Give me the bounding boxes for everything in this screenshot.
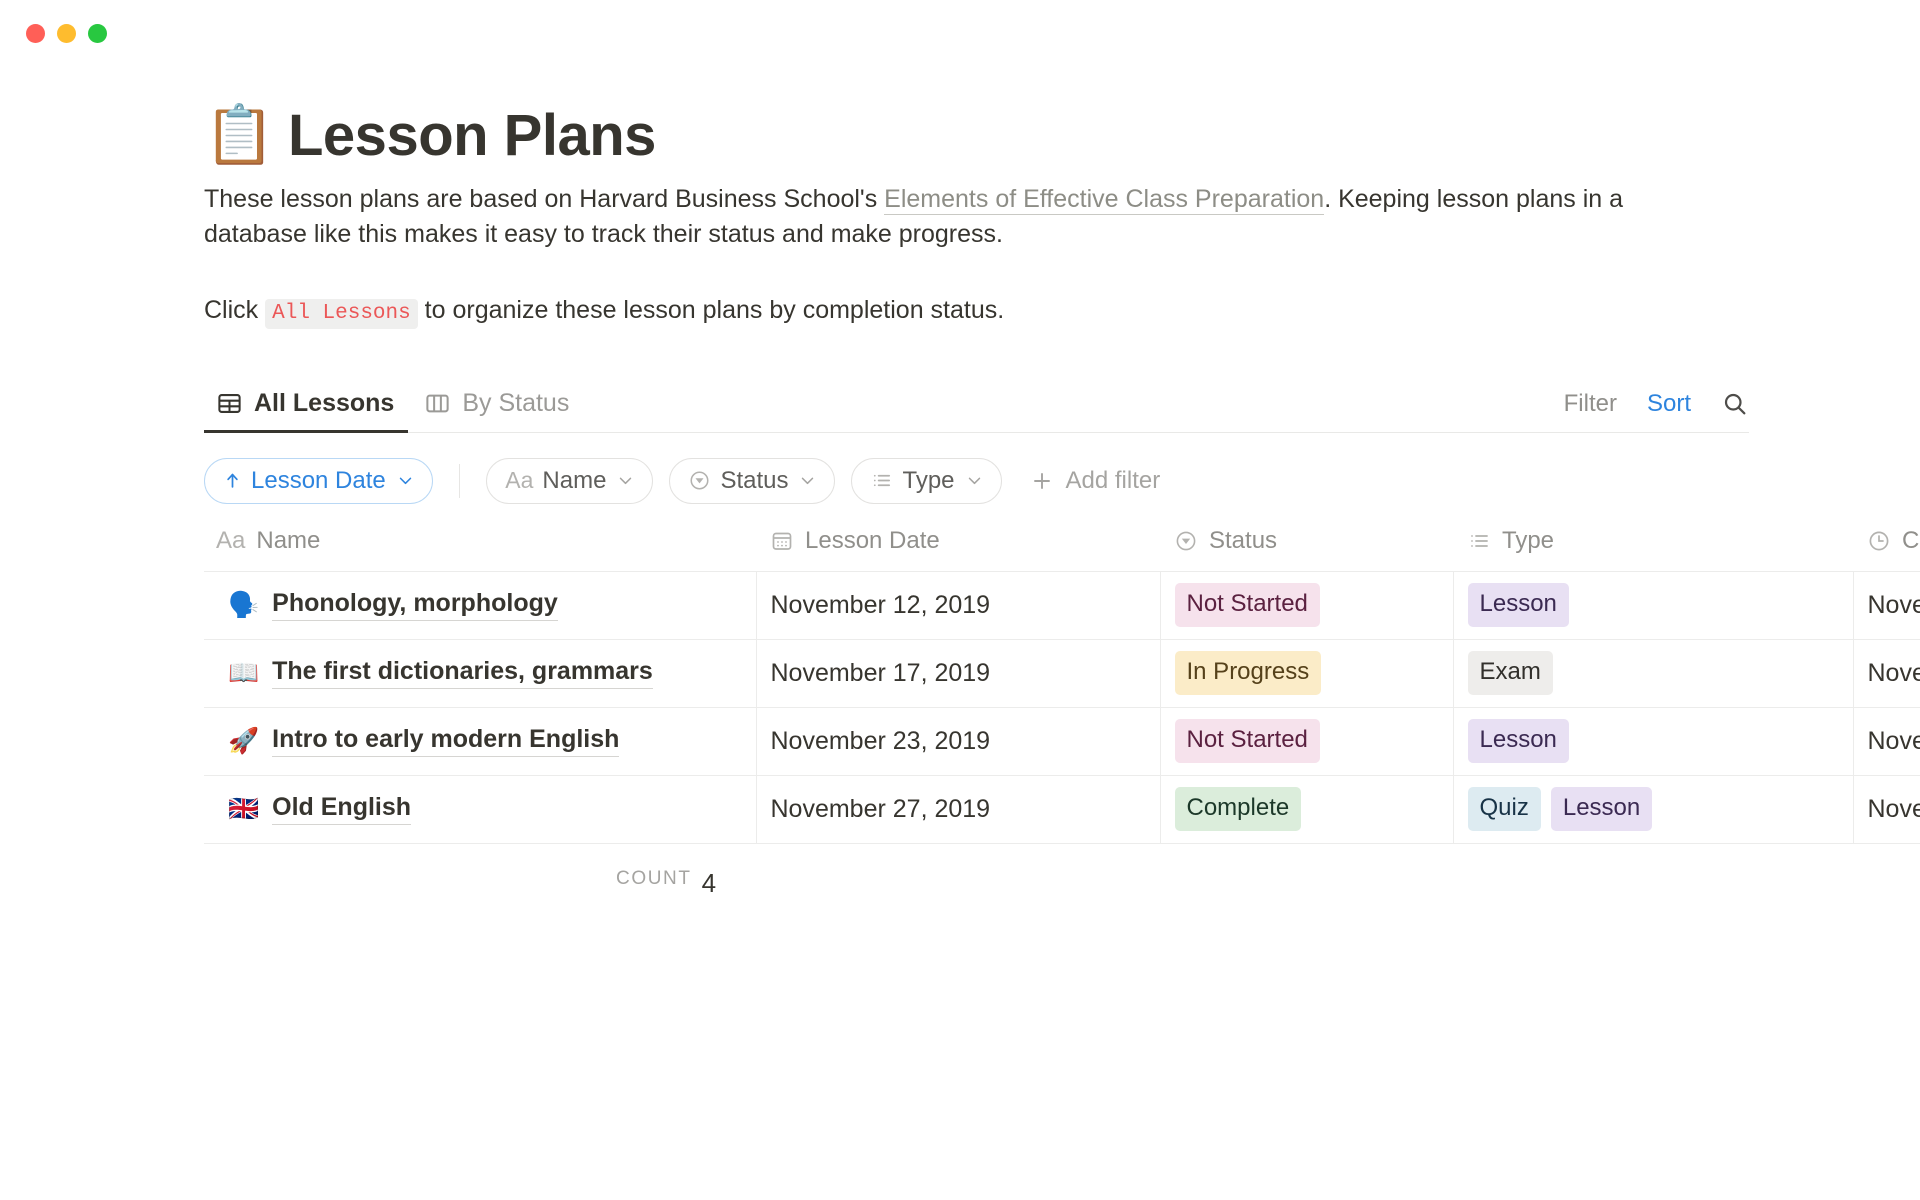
table-row[interactable]: 🗣️ Phonology, morphology November 12, 20… [204,571,1920,639]
column-header-type[interactable]: Type [1453,527,1853,572]
database-table-container: Aa Name [204,527,1920,844]
speaking-head-icon: 🗣️ [228,593,259,618]
cell-status[interactable]: Complete [1160,775,1453,843]
table-row[interactable]: 📖 The first dictionaries, grammars Novem… [204,639,1920,707]
sort-chip-label: Lesson Date [251,467,386,495]
window-title-bar [0,0,1920,62]
cell-created-time[interactable]: Nove [1853,639,1920,707]
chevron-down-icon [397,472,414,489]
board-icon [424,390,451,417]
multi-select-list-icon [1467,529,1491,553]
column-header-status[interactable]: Status [1160,527,1453,572]
description-text-before-link: These lesson plans are based on Harvard … [204,185,884,213]
column-header-lesson-date-label: Lesson Date [805,527,940,555]
cell-type[interactable]: Exam [1453,639,1853,707]
type-badge: Lesson [1551,787,1652,831]
cell-type[interactable]: Quiz Lesson [1453,775,1853,843]
column-header-name[interactable]: Aa Name [204,527,756,572]
uk-flag-icon: 🇬🇧 [228,797,259,822]
cell-created-time[interactable]: Nove [1853,707,1920,775]
filter-chip-status[interactable]: Status [669,458,835,504]
tab-all-lessons[interactable]: All Lessons [204,389,408,432]
status-badge: Complete [1175,787,1302,831]
traffic-lights [26,24,107,43]
add-filter-label: Add filter [1066,467,1161,495]
chevron-down-icon [617,472,634,489]
table-row[interactable]: 🚀 Intro to early modern English November… [204,707,1920,775]
row-title-link[interactable]: The first dictionaries, grammars [272,657,653,689]
filter-sort-chips-row: Lesson Date Aa Name [204,457,1920,505]
search-icon[interactable] [1721,390,1749,418]
calendar-icon [770,529,794,553]
cell-name[interactable]: 🚀 Intro to early modern English [204,707,756,775]
cell-type[interactable]: Lesson [1453,707,1853,775]
filter-chip-name[interactable]: Aa Name [486,458,653,504]
clock-icon [1867,529,1891,553]
table-icon [216,390,243,417]
table-row[interactable]: 🇬🇧 Old English November 27, 2019 Complet… [204,775,1920,843]
column-header-lesson-date[interactable]: Lesson Date [756,527,1160,572]
page-title: Lesson Plans [288,104,656,168]
chevron-down-icon [966,472,983,489]
view-controls: Filter Sort [1564,390,1749,432]
cell-lesson-date[interactable]: November 17, 2019 [756,639,1160,707]
elements-of-effective-class-preparation-link[interactable]: Elements of Effective Class Preparation [884,185,1324,215]
column-header-created-time[interactable]: Cr [1853,527,1920,572]
chevron-down-icon [799,472,816,489]
filter-chip-type[interactable]: Type [851,458,1001,504]
cell-lesson-date[interactable]: November 27, 2019 [756,775,1160,843]
rocket-icon: 🚀 [228,729,259,754]
instruction-text-before-code: Click [204,296,265,324]
filter-chip-name-label: Name [542,467,606,495]
tab-by-status[interactable]: By Status [412,389,583,432]
add-filter-button[interactable]: Add filter [1030,467,1161,495]
table-header: Aa Name [204,527,1920,572]
cell-name[interactable]: 🇬🇧 Old English [204,775,756,843]
type-badge: Exam [1468,651,1553,695]
count-value: 4 [702,868,716,899]
tab-all-lessons-label: All Lessons [254,389,394,418]
minimize-window-button[interactable] [57,24,76,43]
cell-created-time[interactable]: Nove [1853,775,1920,843]
cell-created-time[interactable]: Nove [1853,571,1920,639]
view-tabs-bar: All Lessons By Status Filter Sort [204,371,1749,433]
status-badge: Not Started [1175,719,1320,763]
paragraph-spacer [204,253,1920,293]
filter-chip-status-label: Status [720,467,788,495]
multi-select-list-icon [870,469,893,492]
row-title-link[interactable]: Phonology, morphology [272,589,558,621]
description-paragraph: These lesson plans are based on Harvard … [204,182,1724,253]
row-title-link[interactable]: Intro to early modern English [272,725,619,757]
cell-lesson-date[interactable]: November 23, 2019 [756,707,1160,775]
type-badge: Lesson [1468,583,1569,627]
all-lessons-code-chip: All Lessons [265,299,418,329]
column-header-created-time-label: Cr [1902,527,1920,555]
page-content: 📋 Lesson Plans These lesson plans are ba… [0,62,1920,1200]
cell-name[interactable]: 📖 The first dictionaries, grammars [204,639,756,707]
instruction-text-after-code: to organize these lesson plans by comple… [418,296,1004,324]
select-circle-icon [688,469,711,492]
sort-chip-lesson-date[interactable]: Lesson Date [204,458,433,504]
cell-type[interactable]: Lesson [1453,571,1853,639]
column-header-status-label: Status [1209,527,1277,555]
column-header-name-label: Name [256,527,320,555]
select-circle-icon [1174,529,1198,553]
type-badge: Quiz [1468,787,1541,831]
view-tabs-list: All Lessons By Status [204,371,583,432]
tab-by-status-label: By Status [462,389,569,418]
instruction-paragraph: Click All Lessons to organize these less… [204,293,1724,329]
status-badge: In Progress [1175,651,1322,695]
text-aa-icon: Aa [216,527,245,555]
sort-button[interactable]: Sort [1647,390,1691,418]
cell-status[interactable]: Not Started [1160,707,1453,775]
clipboard-icon: 📋 [204,107,266,164]
filter-button[interactable]: Filter [1564,390,1617,418]
arrow-up-icon [223,471,242,490]
count-label: COUNT [616,868,692,899]
maximize-window-button[interactable] [88,24,107,43]
text-aa-icon: Aa [505,467,533,494]
table-body: 🗣️ Phonology, morphology November 12, 20… [204,571,1920,843]
cell-lesson-date[interactable]: November 12, 2019 [756,571,1160,639]
filter-chip-type-label: Type [902,467,954,495]
cell-status[interactable]: In Progress [1160,639,1453,707]
cell-status[interactable]: Not Started [1160,571,1453,639]
close-window-button[interactable] [26,24,45,43]
row-title-link[interactable]: Old English [272,793,411,825]
table-footer: COUNT 4 [204,844,1920,899]
chips-divider [459,464,461,498]
status-badge: Not Started [1175,583,1320,627]
lesson-plans-table: Aa Name [204,527,1920,844]
cell-name[interactable]: 🗣️ Phonology, morphology [204,571,756,639]
open-book-icon: 📖 [228,661,259,686]
table-header-row: Aa Name [204,527,1920,572]
type-badge: Lesson [1468,719,1569,763]
column-header-type-label: Type [1502,527,1554,555]
page-header: 📋 Lesson Plans [204,104,1920,168]
plus-icon [1030,469,1054,493]
